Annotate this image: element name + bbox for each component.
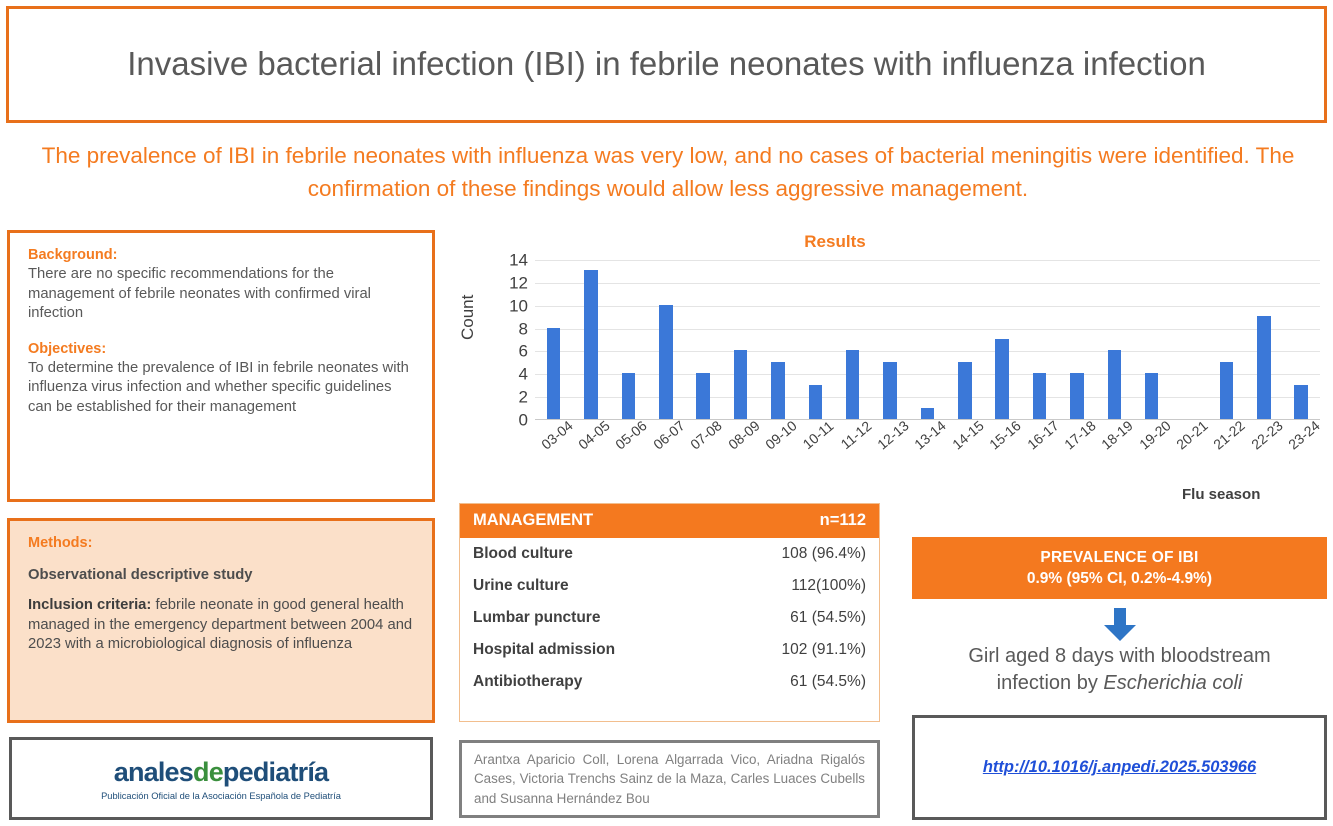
chart-y-axis-ticks: 02468101214 bbox=[488, 260, 528, 420]
chart-x-tick-slot: 12-13 bbox=[871, 423, 908, 483]
table-row: Lumbar puncture61 (54.5%) bbox=[460, 602, 879, 634]
chart-bar bbox=[622, 373, 635, 419]
table-row: Blood culture108 (96.4%) bbox=[460, 538, 879, 570]
logo-part-anales: anales bbox=[114, 757, 193, 787]
chart-bar bbox=[883, 362, 896, 419]
prevalence-badge: PREVALENCE OF IBI 0.9% (95% CI, 0.2%-4.9… bbox=[912, 537, 1327, 599]
chart-x-tick: 16-17 bbox=[1024, 417, 1062, 452]
management-row-value: 112(100%) bbox=[791, 577, 866, 595]
prevalence-title: PREVALENCE OF IBI bbox=[1040, 549, 1198, 567]
table-row: Hospital admission102 (91.1%) bbox=[460, 634, 879, 666]
chart-x-tick-slot: 07-08 bbox=[685, 423, 722, 483]
chart-x-tick: 10-11 bbox=[800, 418, 837, 453]
chart-bar-slot bbox=[1245, 260, 1282, 419]
chart-bar-slot bbox=[1283, 260, 1320, 419]
logo-part-pediatria: pediatría bbox=[223, 757, 328, 787]
chart-y-tick: 0 bbox=[519, 412, 528, 429]
chart-bar-slot bbox=[871, 260, 908, 419]
chart-x-tick: 06-07 bbox=[650, 417, 688, 452]
management-table-header: MANAGEMENT n=112 bbox=[460, 504, 879, 538]
chart-bar-slot bbox=[535, 260, 572, 419]
chart-x-tick-slot: 10-11 bbox=[797, 423, 834, 483]
chart-bar-slot bbox=[610, 260, 647, 419]
chart-x-tick-slot: 23-24 bbox=[1283, 423, 1320, 483]
chart-x-tick-slot: 11-12 bbox=[834, 423, 871, 483]
chart-bar-slot bbox=[1021, 260, 1058, 419]
doi-box: http://10.1016/j.anpedi.2025.503966 bbox=[912, 715, 1327, 820]
chart-x-tick: 17-18 bbox=[1061, 417, 1099, 452]
chart-x-tick: 22-23 bbox=[1248, 417, 1286, 452]
table-row: Antibiotherapy61 (54.5%) bbox=[460, 666, 879, 698]
management-row-value: 102 (91.1%) bbox=[782, 641, 866, 659]
chart-y-tick: 4 bbox=[519, 366, 528, 383]
chart-bar bbox=[547, 328, 560, 419]
chart-x-tick-slot: 16-17 bbox=[1021, 423, 1058, 483]
chart-bar-slot bbox=[984, 260, 1021, 419]
management-header-label: MANAGEMENT bbox=[473, 511, 593, 530]
inclusion-criteria-label: Inclusion criteria: bbox=[28, 597, 151, 613]
chart-x-tick-slot: 21-22 bbox=[1208, 423, 1245, 483]
journal-logo-box: analesdepediatría Publicación Oficial de… bbox=[9, 737, 433, 820]
management-row-label: Hospital admission bbox=[473, 641, 615, 659]
chart-x-tick: 23-24 bbox=[1285, 417, 1323, 452]
chart-bar-slot bbox=[1133, 260, 1170, 419]
management-row-label: Urine culture bbox=[473, 577, 569, 595]
chart-bar bbox=[1108, 350, 1121, 419]
chart-y-tick: 6 bbox=[519, 343, 528, 360]
chart-x-tick: 15-16 bbox=[986, 417, 1024, 452]
chart-bar-slot bbox=[946, 260, 983, 419]
methods-box: Methods: Observational descriptive study… bbox=[7, 518, 435, 723]
chart-x-tick-slot: 06-07 bbox=[647, 423, 684, 483]
management-row-value: 61 (54.5%) bbox=[790, 609, 866, 627]
chart-y-tick: 12 bbox=[509, 274, 528, 291]
chart-x-tick: 04-05 bbox=[575, 417, 613, 452]
chart-y-tick: 14 bbox=[509, 252, 528, 269]
chart-bar bbox=[1070, 373, 1083, 419]
page-title: Invasive bacterial infection (IBI) in fe… bbox=[87, 45, 1246, 84]
chart-bar-slot bbox=[1208, 260, 1245, 419]
chart-x-tick: 08-09 bbox=[725, 417, 763, 452]
background-objectives-box: Background: There are no specific recomm… bbox=[7, 230, 435, 502]
chart-bar-slot bbox=[834, 260, 871, 419]
chart-bar bbox=[696, 373, 709, 419]
chart-plot-area bbox=[535, 260, 1320, 420]
chart-bar bbox=[846, 350, 859, 419]
chart-x-tick-slot: 04-05 bbox=[572, 423, 609, 483]
management-table: MANAGEMENT n=112 Blood culture108 (96.4%… bbox=[459, 503, 880, 722]
chart-x-tick-slot: 17-18 bbox=[1058, 423, 1095, 483]
chart-bar-slot bbox=[797, 260, 834, 419]
chart-bar bbox=[921, 408, 934, 419]
chart-x-tick-slot: 09-10 bbox=[759, 423, 796, 483]
flu-season-bar-chart: Count 02468101214 03-0404-0505-0606-0707… bbox=[460, 260, 1320, 490]
chart-x-tick-slot: 15-16 bbox=[984, 423, 1021, 483]
authors-box: Arantxa Aparicio Coll, Lorena Algarrada … bbox=[459, 740, 880, 818]
chart-bar-slot bbox=[722, 260, 759, 419]
chart-bar bbox=[1220, 362, 1233, 419]
management-table-body: Blood culture108 (96.4%)Urine culture112… bbox=[460, 538, 879, 698]
chart-x-tick-slot: 22-23 bbox=[1245, 423, 1282, 483]
chart-x-tick-slot: 19-20 bbox=[1133, 423, 1170, 483]
ibi-case-description: Girl aged 8 days with bloodstream infect… bbox=[912, 643, 1327, 697]
chart-x-tick-slot: 14-15 bbox=[946, 423, 983, 483]
journal-logo-wordmark: analesdepediatría bbox=[114, 757, 329, 788]
chart-x-tick: 03-04 bbox=[538, 417, 576, 452]
chart-x-tick: 18-19 bbox=[1098, 417, 1136, 452]
background-text: There are no specific recommendations fo… bbox=[28, 265, 416, 324]
logo-part-de: de bbox=[193, 757, 223, 787]
chart-x-tick: 11-12 bbox=[837, 418, 874, 453]
chart-bar-slot bbox=[909, 260, 946, 419]
chart-x-tick: 09-10 bbox=[762, 417, 800, 452]
case-organism-name: Escherichia coli bbox=[1103, 672, 1242, 694]
chart-bar bbox=[771, 362, 784, 419]
chart-bars bbox=[535, 260, 1320, 419]
chart-x-tick-slot: 03-04 bbox=[535, 423, 572, 483]
chart-bar-slot bbox=[572, 260, 609, 419]
chart-bar-slot bbox=[1170, 260, 1207, 419]
chart-bar bbox=[734, 350, 747, 419]
chart-y-tick: 8 bbox=[519, 320, 528, 337]
case-line-1: Girl aged 8 days with bloodstream bbox=[968, 645, 1270, 667]
management-row-value: 108 (96.4%) bbox=[782, 545, 866, 563]
management-row-label: Blood culture bbox=[473, 545, 573, 563]
chart-bar bbox=[995, 339, 1008, 419]
chart-x-tick: 12-13 bbox=[874, 417, 912, 452]
chart-bar-slot bbox=[1096, 260, 1133, 419]
chart-bar bbox=[958, 362, 971, 419]
chart-x-axis-ticks: 03-0404-0505-0606-0707-0808-0909-1010-11… bbox=[535, 423, 1320, 483]
prevalence-value: 0.9% (95% CI, 0.2%-4.9%) bbox=[1027, 570, 1212, 588]
chart-bar bbox=[1257, 316, 1270, 419]
poster-title-box: Invasive bacterial infection (IBI) in fe… bbox=[6, 6, 1327, 123]
spacer bbox=[26, 324, 416, 341]
chart-bar bbox=[1145, 373, 1158, 419]
chart-bar-slot bbox=[647, 260, 684, 419]
doi-link[interactable]: http://10.1016/j.anpedi.2025.503966 bbox=[983, 758, 1256, 777]
chart-bar bbox=[584, 270, 597, 419]
chart-x-tick-slot: 18-19 bbox=[1096, 423, 1133, 483]
methods-heading: Methods: bbox=[28, 535, 416, 551]
objectives-heading: Objectives: bbox=[28, 341, 416, 357]
chart-x-tick-slot: 13-14 bbox=[909, 423, 946, 483]
chart-x-tick: 07-08 bbox=[687, 417, 725, 452]
methods-inclusion: Inclusion criteria: febrile neonate in g… bbox=[28, 596, 416, 655]
management-row-label: Antibiotherapy bbox=[473, 673, 582, 691]
management-row-label: Lumbar puncture bbox=[473, 609, 600, 627]
chart-y-tick: 10 bbox=[509, 297, 528, 314]
results-section-title: Results bbox=[690, 232, 980, 252]
management-header-count: n=112 bbox=[820, 511, 866, 530]
chart-bar bbox=[659, 305, 672, 419]
chart-x-axis-label: Flu season bbox=[1182, 486, 1260, 503]
management-row-value: 61 (54.5%) bbox=[790, 673, 866, 691]
chart-x-tick: 21-22 bbox=[1211, 417, 1249, 452]
chart-x-tick: 19-20 bbox=[1136, 417, 1174, 452]
chart-bar bbox=[1033, 373, 1046, 419]
chart-x-tick: 05-06 bbox=[613, 417, 651, 452]
chart-bar bbox=[1294, 385, 1307, 419]
chart-y-axis-label: Count bbox=[458, 295, 478, 340]
chart-x-tick: 20-21 bbox=[1173, 417, 1211, 452]
down-arrow-icon bbox=[1100, 608, 1140, 642]
background-heading: Background: bbox=[28, 247, 416, 263]
chart-x-tick-slot: 08-09 bbox=[722, 423, 759, 483]
chart-bar-slot bbox=[759, 260, 796, 419]
objectives-text: To determine the prevalence of IBI in fe… bbox=[28, 359, 416, 418]
chart-bar-slot bbox=[1058, 260, 1095, 419]
chart-bar-slot bbox=[685, 260, 722, 419]
table-row: Urine culture112(100%) bbox=[460, 570, 879, 602]
methods-design: Observational descriptive study bbox=[28, 567, 416, 583]
chart-y-tick: 2 bbox=[519, 389, 528, 406]
chart-bar bbox=[809, 385, 822, 419]
chart-x-tick: 13-14 bbox=[912, 417, 950, 452]
logo-subtitle: Publicación Oficial de la Asociación Esp… bbox=[101, 791, 341, 801]
chart-x-tick: 14-15 bbox=[949, 417, 987, 452]
highlight-statement: The prevalence of IBI in febrile neonate… bbox=[8, 140, 1328, 205]
case-line-2-prefix: infection by bbox=[997, 672, 1104, 694]
chart-x-tick-slot: 20-21 bbox=[1170, 423, 1207, 483]
chart-x-tick-slot: 05-06 bbox=[610, 423, 647, 483]
authors-text: Arantxa Aparicio Coll, Lorena Algarrada … bbox=[474, 750, 865, 807]
